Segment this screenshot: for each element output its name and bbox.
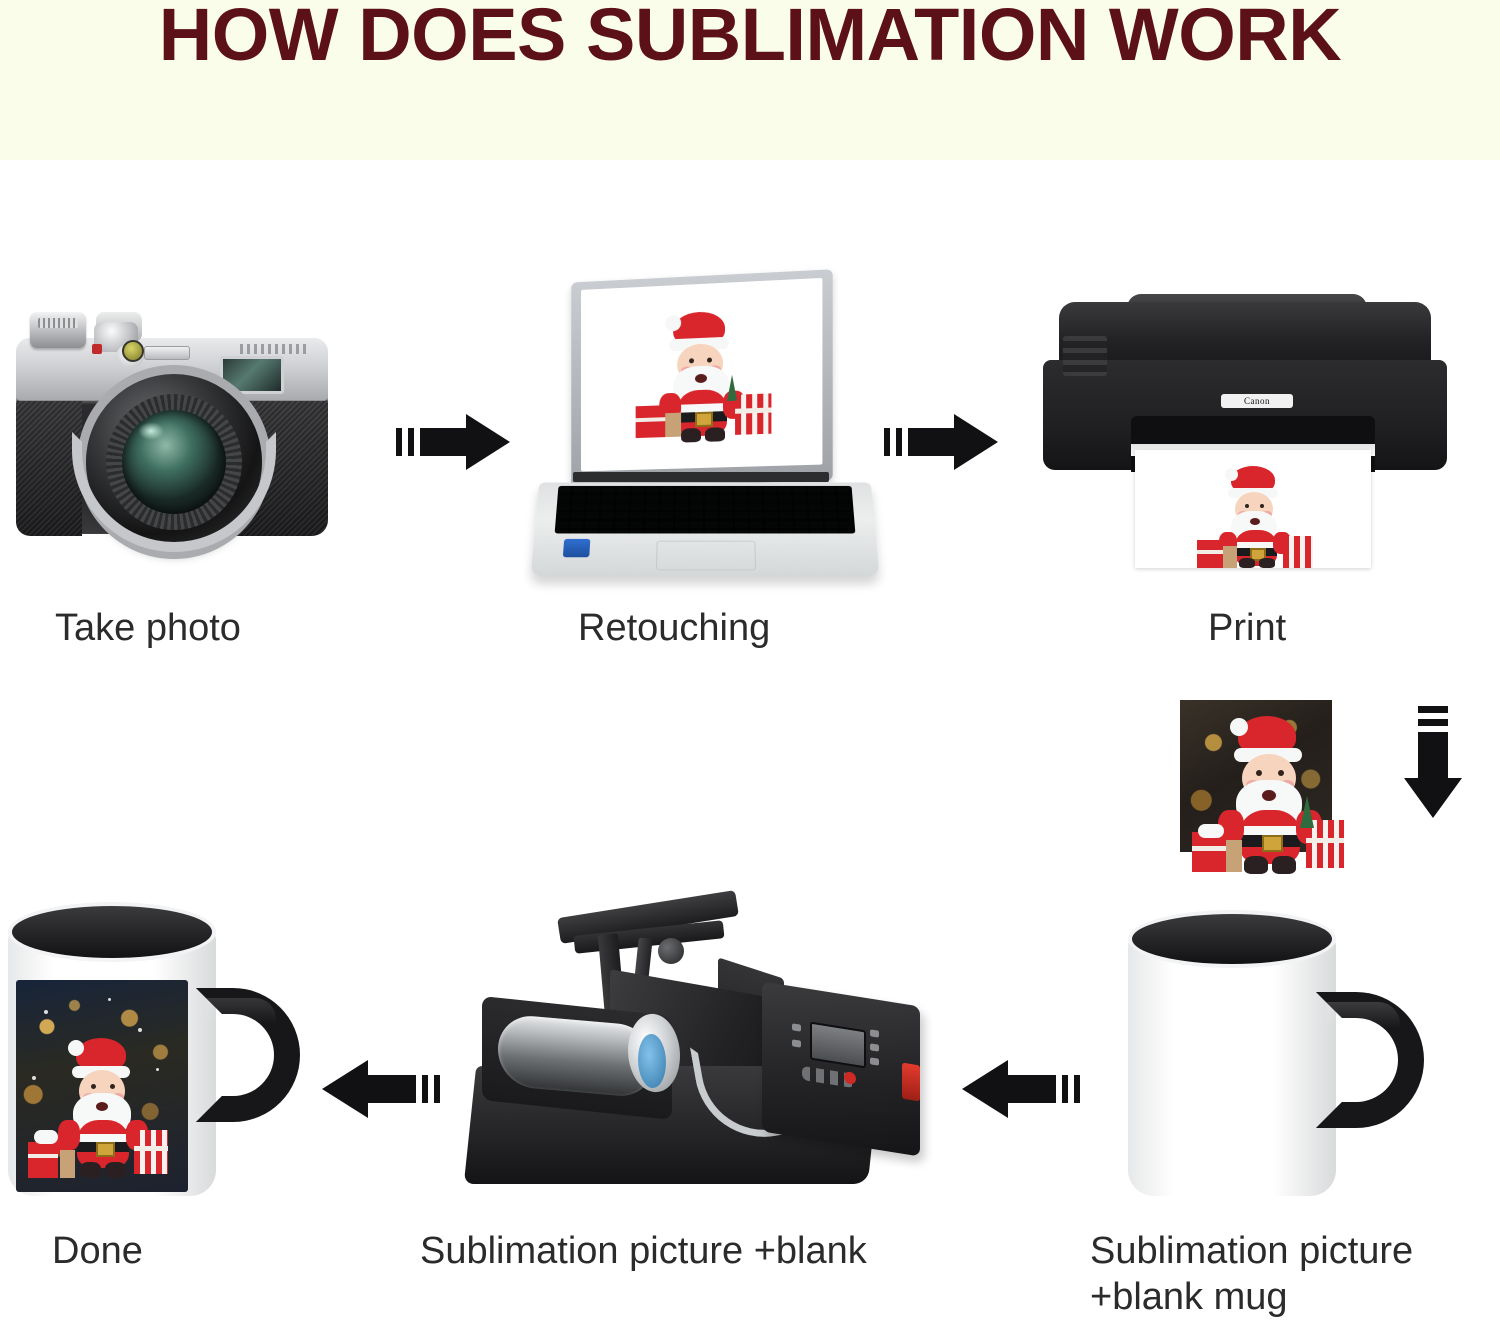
caption-print: Print [1208, 605, 1286, 651]
santa-artwork-print [1197, 466, 1317, 566]
arrow-mug-to-press [962, 1060, 1084, 1118]
power-switch[interactable] [902, 1063, 920, 1102]
caption-take-photo: Take photo [55, 605, 241, 651]
printer-icon: Canon [1035, 298, 1455, 578]
arrow-printer-to-sheet [1404, 706, 1462, 816]
arrow-press-to-done [322, 1060, 444, 1118]
arrow-laptop-to-printer [884, 414, 1004, 470]
arrow-camera-to-laptop [396, 414, 516, 470]
sublimation-sheet-icon [1152, 700, 1362, 886]
page-title: HOW DOES SUBLIMATION WORK [0, 0, 1500, 74]
caption-retouching: Retouching [578, 605, 770, 651]
finished-mug-icon [2, 898, 302, 1208]
santa-artwork-sheet [1192, 716, 1342, 884]
santa-artwork-screen [632, 309, 772, 444]
mug-printed-artwork [16, 980, 188, 1192]
infographic-page: HOW DOES SUBLIMATION WORK Take photo [0, 0, 1500, 1331]
santa-artwork-mug [46, 1038, 172, 1190]
blank-mug-icon [1120, 908, 1440, 1204]
caption-heat-press: Sublimation picture +blank [420, 1228, 867, 1274]
caption-done: Done [52, 1228, 143, 1274]
camera-icon [8, 282, 338, 562]
printer-brand-label: Canon [1221, 394, 1293, 408]
caption-blank-mug: Sublimation picture +blank mug [1090, 1228, 1500, 1320]
mug-heat-press-icon [462, 898, 952, 1203]
laptop-icon [533, 276, 883, 586]
